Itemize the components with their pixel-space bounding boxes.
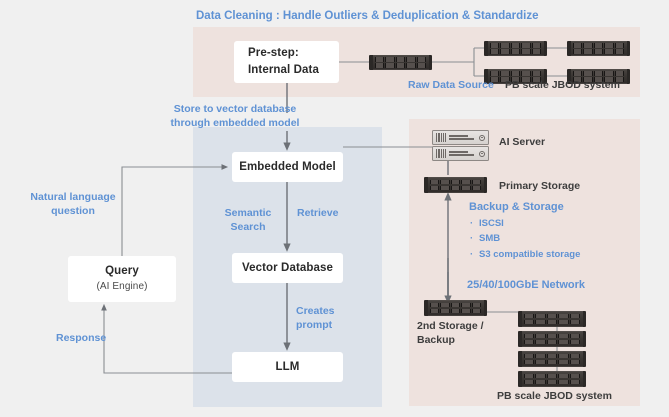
server-rack-icon: [518, 311, 586, 327]
server-rack-icon: [518, 351, 586, 367]
diagram-canvas: Pre-step: Internal Data Embedded Model V…: [0, 0, 669, 417]
node-vector-database[interactable]: Vector Database: [232, 253, 343, 283]
pre-step-line2: Internal Data: [248, 62, 319, 79]
label-backup-and-storage: Backup & Storage: [469, 200, 564, 215]
list-item: ·S3 compatible storage: [470, 247, 580, 262]
label-retrieve: Retrieve: [297, 206, 338, 220]
label-natural-language-question: Natural language question: [18, 190, 128, 218]
label-pb-scale-jbod-bottom: PB scale JBOD system: [497, 389, 612, 403]
node-embedded-model[interactable]: Embedded Model: [232, 152, 343, 182]
rack-server-icon: [432, 130, 489, 145]
vector-database-label: Vector Database: [242, 260, 333, 277]
label-semantic-search: Semantic Search: [222, 206, 274, 234]
server-rack-icon: [567, 41, 630, 56]
node-pre-step-internal-data[interactable]: Pre-step: Internal Data: [234, 41, 339, 83]
label-response: Response: [56, 331, 106, 345]
query-sublabel: (AI Engine): [96, 280, 147, 295]
rack-server-icon: [432, 146, 489, 161]
list-item: ·SMB: [470, 231, 580, 246]
server-rack-icon: [369, 55, 432, 70]
label-pb-scale-jbod-top: PB scale JBOD system: [505, 78, 620, 92]
llm-label: LLM: [276, 359, 300, 376]
list-item: ·ISCSI: [470, 216, 580, 231]
backup-feature-label: ISCSI: [479, 218, 504, 229]
backup-feature-label: S3 compatible storage: [479, 249, 580, 260]
storage-array-icon: [424, 300, 487, 316]
diagram-title: Data Cleaning : Handle Outliers & Dedupl…: [196, 9, 539, 25]
label-second-storage-backup: 2nd Storage / Backup: [417, 319, 497, 347]
label-network: 25/40/100GbE Network: [467, 278, 585, 293]
query-label: Query: [105, 263, 139, 280]
storage-array-icon: [424, 177, 487, 193]
label-raw-data-source: Raw Data Source: [408, 78, 494, 92]
pre-step-line1: Pre-step:: [248, 45, 299, 62]
backup-feature-list: ·ISCSI ·SMB ·S3 compatible storage: [470, 216, 580, 262]
label-creates-prompt: Creates prompt: [296, 304, 350, 332]
server-rack-icon: [518, 331, 586, 347]
node-query-ai-engine[interactable]: Query (AI Engine): [68, 256, 176, 302]
backup-feature-label: SMB: [479, 233, 500, 244]
server-rack-icon: [518, 371, 586, 387]
embedded-model-label: Embedded Model: [239, 159, 336, 176]
node-llm[interactable]: LLM: [232, 352, 343, 382]
label-ai-server: AI Server: [499, 135, 545, 149]
server-rack-icon: [484, 41, 547, 56]
label-primary-storage: Primary Storage: [499, 179, 580, 193]
label-store-to-vector-database: Store to vector database through embedde…: [140, 102, 330, 130]
